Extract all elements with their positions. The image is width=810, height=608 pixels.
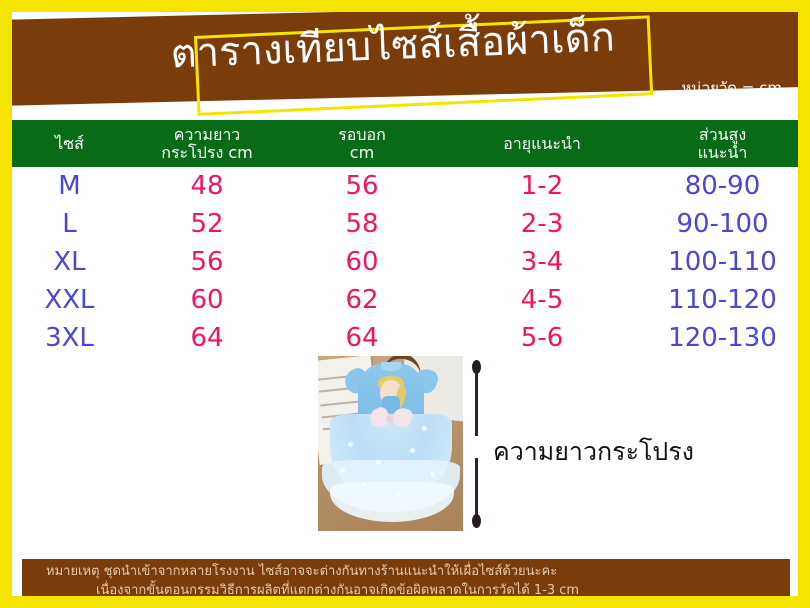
cell-age: 4-5 — [437, 285, 647, 315]
table-row: XL 56 60 3-4 100-110 — [12, 243, 798, 281]
product-photo — [318, 356, 463, 531]
skirt-length-annotation: ความยาวกระโปรง — [493, 432, 694, 472]
cell-length: 60 — [127, 285, 287, 315]
cell-bust: 62 — [287, 285, 437, 315]
snowflake-icon — [348, 442, 353, 447]
column-header-length: ความยาว กระโปรง cm — [127, 126, 287, 162]
skirt-length-arrow-icon — [475, 358, 478, 530]
cell-age: 1-2 — [437, 171, 647, 201]
dress-bow — [370, 408, 412, 428]
cell-height: 80-90 — [647, 171, 798, 201]
cell-length: 64 — [127, 323, 287, 353]
dress-collar — [381, 362, 401, 371]
cell-age: 5-6 — [437, 323, 647, 353]
cell-height: 100-110 — [647, 247, 798, 277]
dress-skirt-layer-3 — [330, 482, 454, 522]
column-header-size: ไซส์ — [12, 135, 127, 153]
cell-bust: 58 — [287, 209, 437, 239]
cell-size: 3XL — [12, 323, 127, 353]
snowflake-icon — [422, 426, 427, 431]
footer-note-line-1: หมายเหตุ ชุดนำเข้าจากหลายโรงงาน ไซส์อาจจ… — [22, 563, 790, 582]
snowflake-icon — [396, 492, 401, 497]
cell-length: 48 — [127, 171, 287, 201]
size-table: ไซส์ ความยาว กระโปรง cm รอบอก cm อายุแนะ… — [12, 120, 798, 357]
table-row: L 52 58 2-3 90-100 — [12, 205, 798, 243]
cell-length: 56 — [127, 247, 287, 277]
table-row: M 48 56 1-2 80-90 — [12, 167, 798, 205]
cell-size: M — [12, 171, 127, 201]
footer-note-line-2: เนื่องจากขั้นตอนกรรมวิธีการผลิตที่แตกต่า… — [22, 582, 790, 596]
snowflake-icon — [362, 482, 367, 487]
cell-age: 3-4 — [437, 247, 647, 277]
table-row: XXL 60 62 4-5 110-120 — [12, 281, 798, 319]
snowflake-icon — [410, 448, 415, 453]
poster-inner: ตารางเทียบไซส์เสื้อผ้าเด็ก หน่วยวัด = cm… — [12, 12, 798, 596]
product-photo-area: ความยาวกระโปรง — [12, 350, 798, 550]
cell-bust: 56 — [287, 171, 437, 201]
column-header-height: ส่วนสูง แนะนำ — [647, 126, 798, 162]
cell-size: L — [12, 209, 127, 239]
cell-age: 2-3 — [437, 209, 647, 239]
snowflake-icon — [340, 468, 345, 473]
unit-label: หน่วยวัด = cm — [682, 76, 782, 100]
cell-height: 120-130 — [647, 323, 798, 353]
cell-height: 90-100 — [647, 209, 798, 239]
snowflake-icon — [430, 472, 435, 477]
cell-bust: 60 — [287, 247, 437, 277]
snowflake-icon — [376, 460, 381, 465]
cell-size: XXL — [12, 285, 127, 315]
column-header-age: อายุแนะนำ — [437, 135, 647, 153]
footer-note: หมายเหตุ ชุดนำเข้าจากหลายโรงงาน ไซส์อาจจ… — [22, 559, 790, 596]
cell-size: XL — [12, 247, 127, 277]
cell-length: 52 — [127, 209, 287, 239]
column-header-bust: รอบอก cm — [287, 126, 437, 162]
table-header-row: ไซส์ ความยาว กระโปรง cm รอบอก cm อายุแนะ… — [12, 120, 798, 167]
cell-bust: 64 — [287, 323, 437, 353]
cell-height: 110-120 — [647, 285, 798, 315]
size-chart-poster: ตารางเทียบไซส์เสื้อผ้าเด็ก หน่วยวัด = cm… — [0, 0, 810, 608]
